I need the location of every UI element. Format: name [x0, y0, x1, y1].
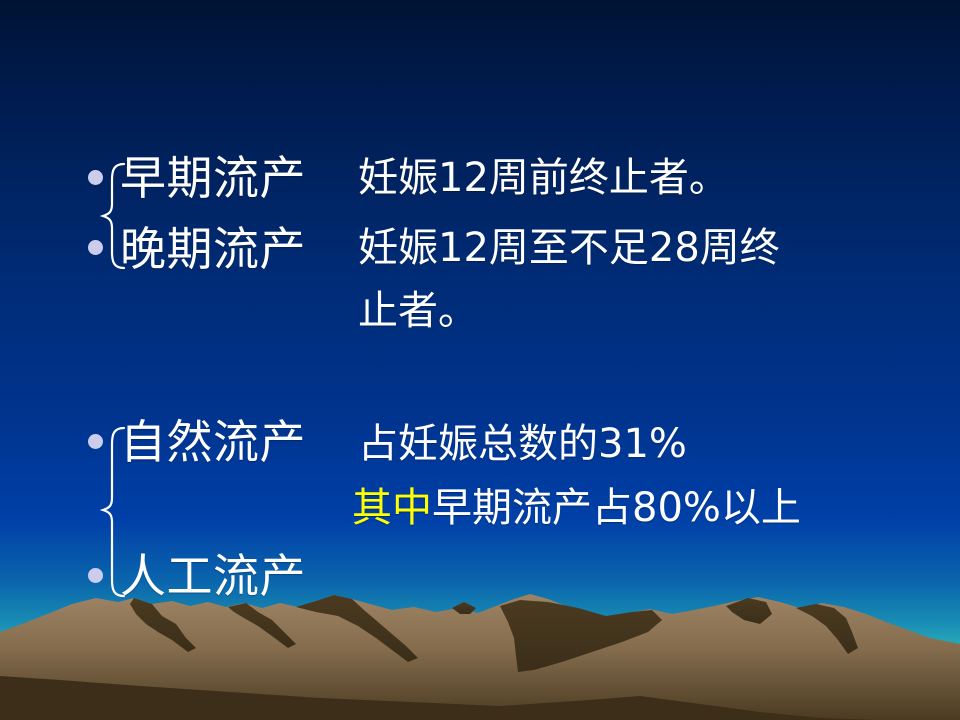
label-early-abortion: 早期流产: [120, 155, 306, 201]
presentation-slide: 早期流产 晚期流产 妊娠12周前终止者。 妊娠12周至不足28周终 止者。 自然…: [0, 0, 960, 720]
label-late-abortion: 晚期流产: [120, 226, 306, 272]
desc-late-abortion-line2: 止者。: [358, 291, 478, 331]
label-induced-abortion: 人工流产: [120, 553, 306, 599]
label-spontaneous-abortion: 自然流产: [120, 419, 306, 465]
note-rest-text: 早期流产占80%以上: [432, 485, 801, 531]
desc-early-abortion-line1: 妊娠12周前终止者。: [358, 158, 729, 198]
note-spontaneous-abortion: 其中早期流产占80%以上: [352, 488, 801, 528]
desc-spontaneous-abortion: 占妊娠总数的31%: [358, 424, 687, 464]
note-highlight-text: 其中: [352, 485, 432, 531]
desc-late-abortion-line1: 妊娠12周至不足28周终: [358, 228, 780, 268]
